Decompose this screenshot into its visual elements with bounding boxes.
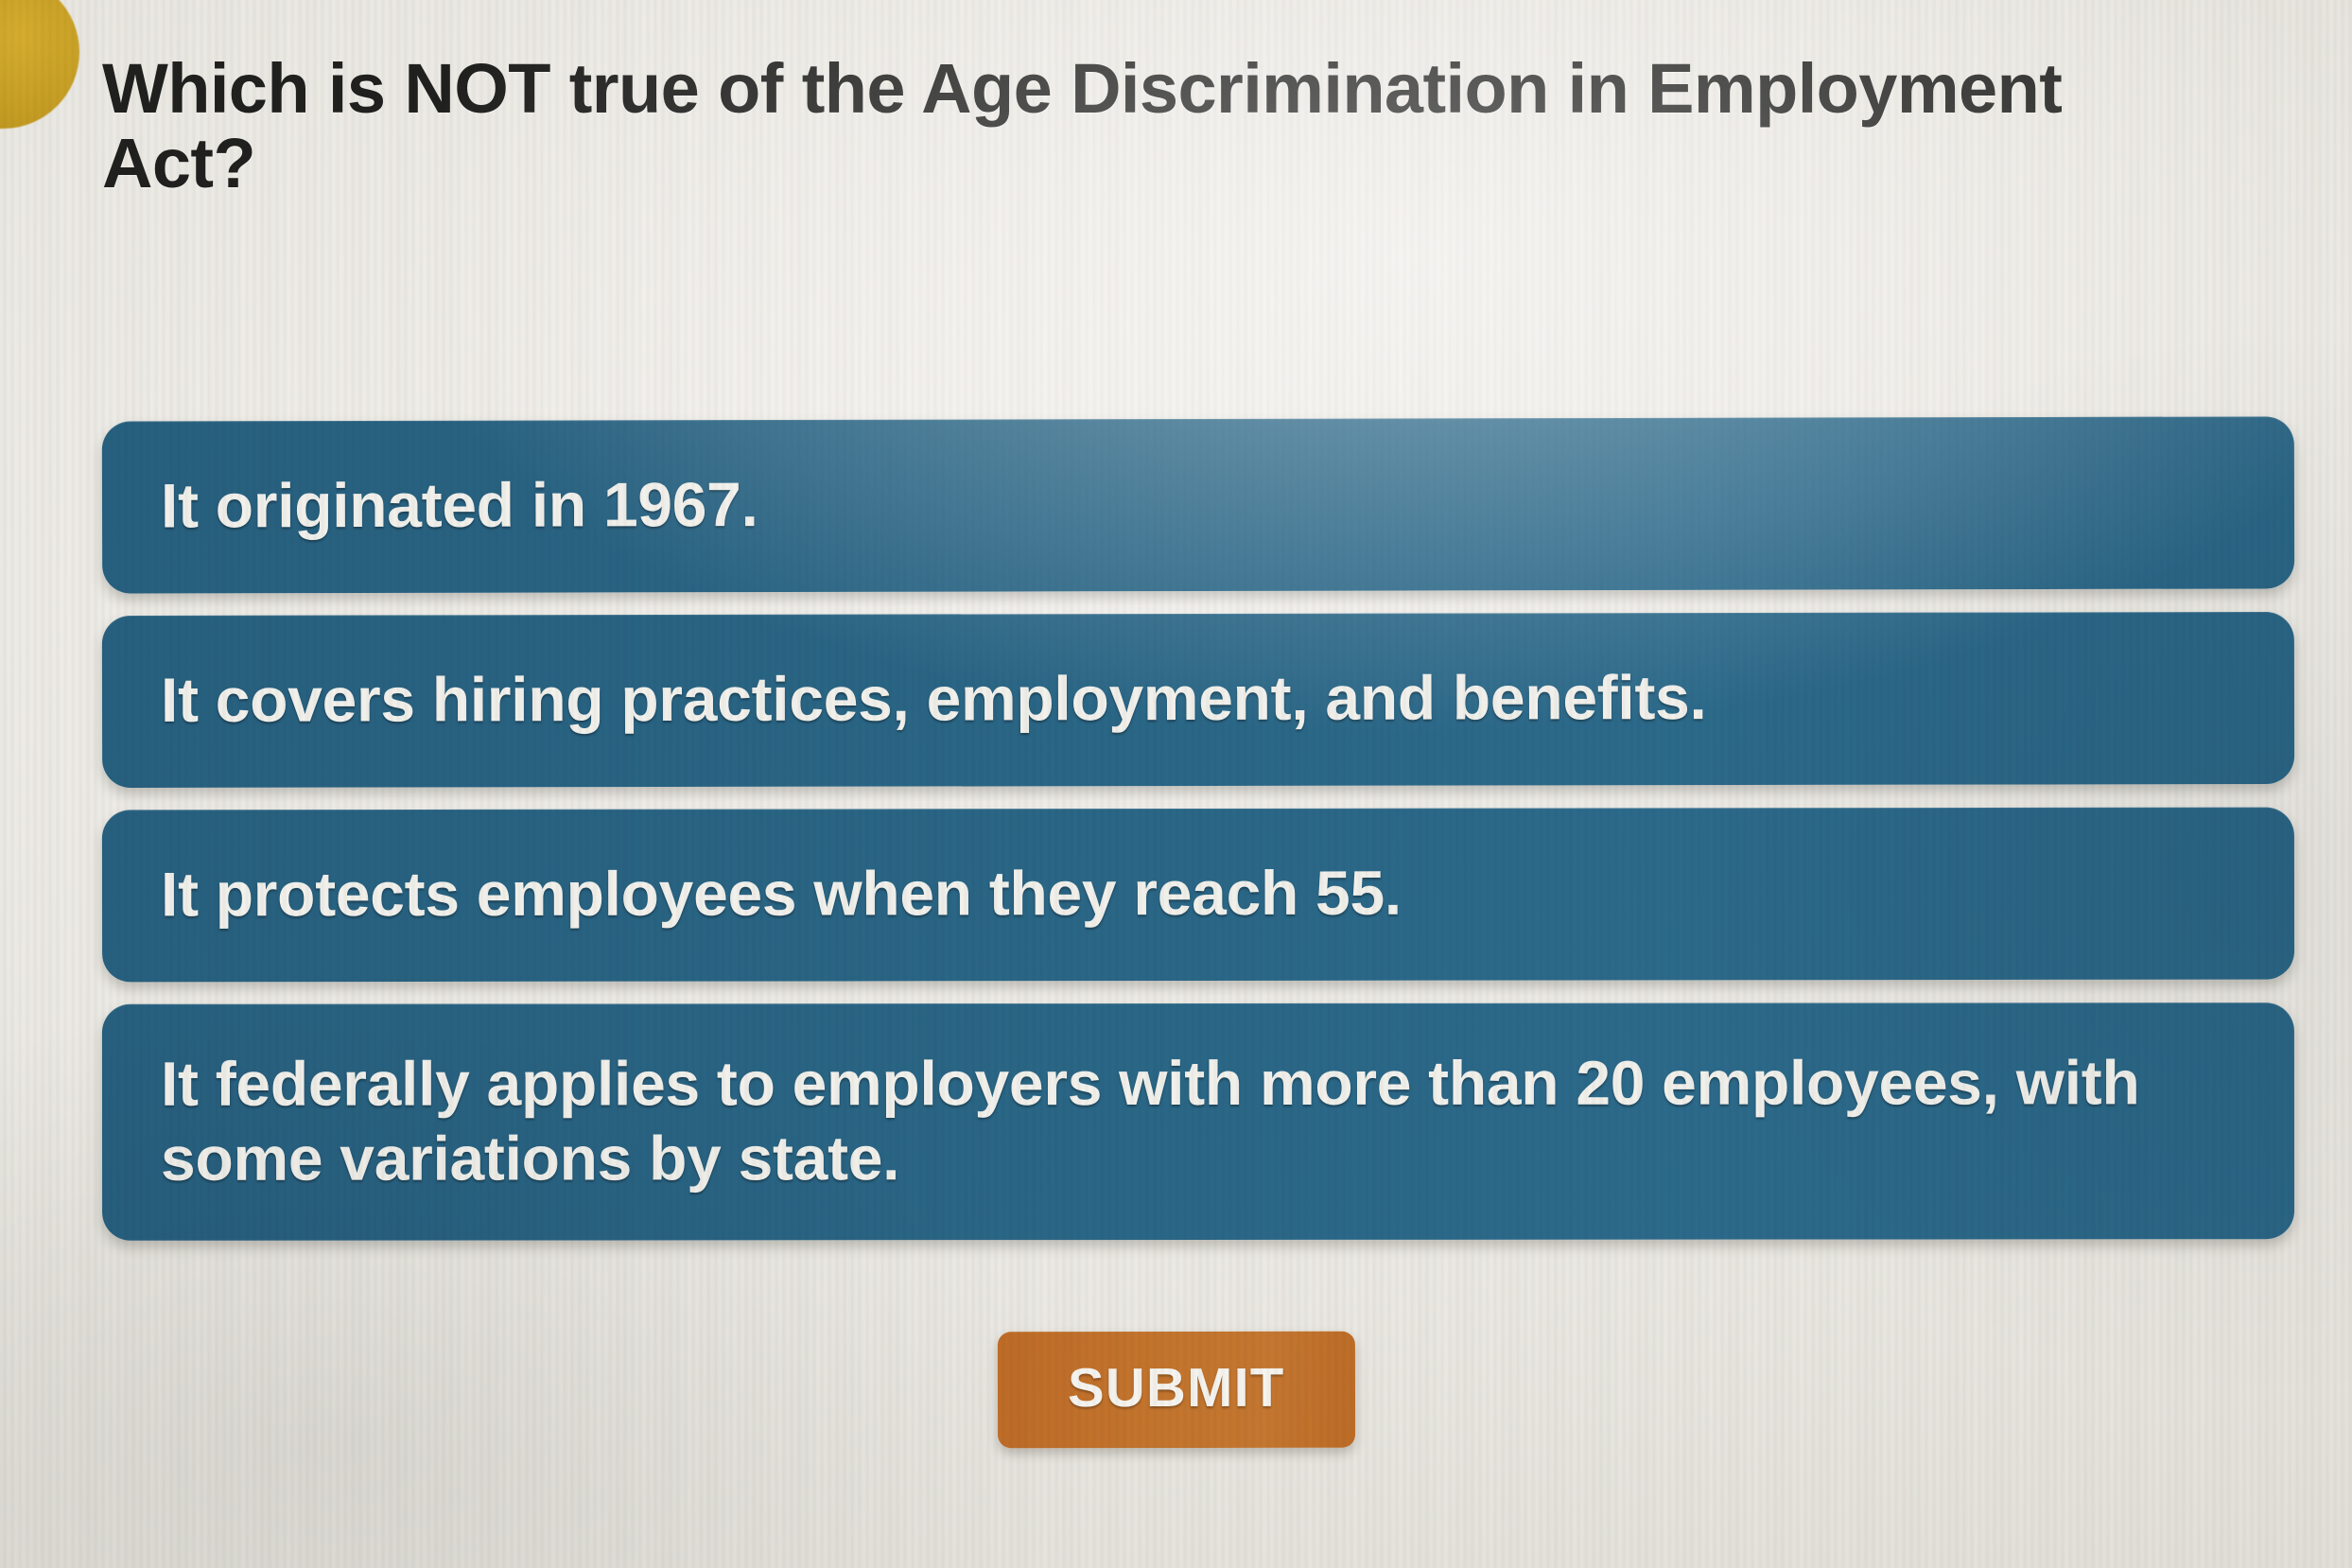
answer-option-4[interactable]: It federally applies to employers with m…	[102, 1002, 2294, 1241]
answer-option-3[interactable]: It protects employees when they reach 55…	[102, 808, 2294, 983]
question-prompt: Which is NOT true of the Age Discriminat…	[102, 51, 2192, 200]
submit-row: SUBMIT	[0, 1332, 2352, 1448]
answer-option-3-label: It protects employees when they reach 55…	[161, 856, 1402, 932]
screen-photo-frame: Which is NOT true of the Age Discriminat…	[0, 0, 2352, 1568]
answer-option-2-label: It covers hiring practices, employment, …	[161, 660, 1707, 738]
answer-option-1-label: It originated in 1967.	[161, 467, 758, 544]
answer-option-4-label: It federally applies to employers with m…	[161, 1045, 2251, 1196]
answer-option-2[interactable]: It covers hiring practices, employment, …	[102, 612, 2294, 788]
answer-options-list: It originated in 1967. It covers hiring …	[102, 419, 2294, 1240]
submit-button[interactable]: SUBMIT	[998, 1332, 1355, 1449]
answer-option-1[interactable]: It originated in 1967.	[102, 416, 2294, 593]
quiz-content: Which is NOT true of the Age Discriminat…	[0, 0, 2352, 1568]
